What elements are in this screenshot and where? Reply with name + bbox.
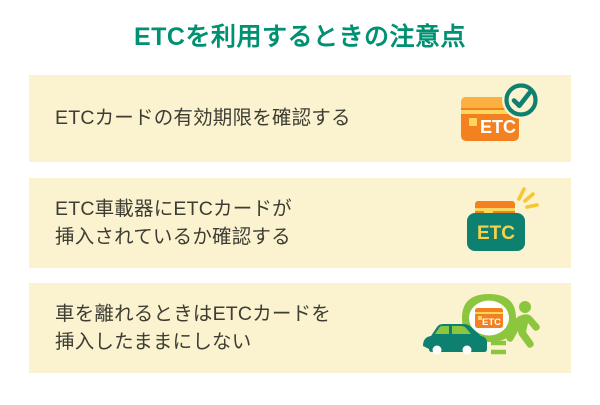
page-title: ETCを利用するときの注意点 xyxy=(0,22,600,52)
etc-onboard-unit-icon: ETC xyxy=(455,181,547,265)
tip-card-expiry: ETCカードの有効期限を確認する ETC xyxy=(29,75,571,162)
infographic-page: ETCを利用するときの注意点 ETCカードの有効期限を確認する ETC xyxy=(0,0,600,405)
tip-card-text: 車を離れるときはETCカードを 挿入したままにしない xyxy=(55,300,417,357)
car-person-etc-card-svg: ETC xyxy=(418,288,546,368)
etc-card-check-svg: ETC xyxy=(457,81,545,157)
etc-onboard-unit-svg: ETC xyxy=(461,183,541,263)
tip-card-remove: 車を離れるときはETCカードを 挿入したままにしない ETC xyxy=(29,283,571,373)
svg-text:ETC: ETC xyxy=(477,223,515,244)
svg-text:ETC: ETC xyxy=(480,117,516,137)
etc-card-check-icon: ETC xyxy=(455,77,547,161)
tip-card-inserted: ETC車載器にETCカードが 挿入されているか確認する ETC xyxy=(29,178,571,268)
svg-text:ETC: ETC xyxy=(482,317,501,328)
tip-card-text: ETC車載器にETCカードが 挿入されているか確認する xyxy=(55,195,455,252)
car-person-etc-card-icon: ETC xyxy=(417,286,547,370)
tip-card-text: ETCカードの有効期限を確認する xyxy=(55,104,455,132)
